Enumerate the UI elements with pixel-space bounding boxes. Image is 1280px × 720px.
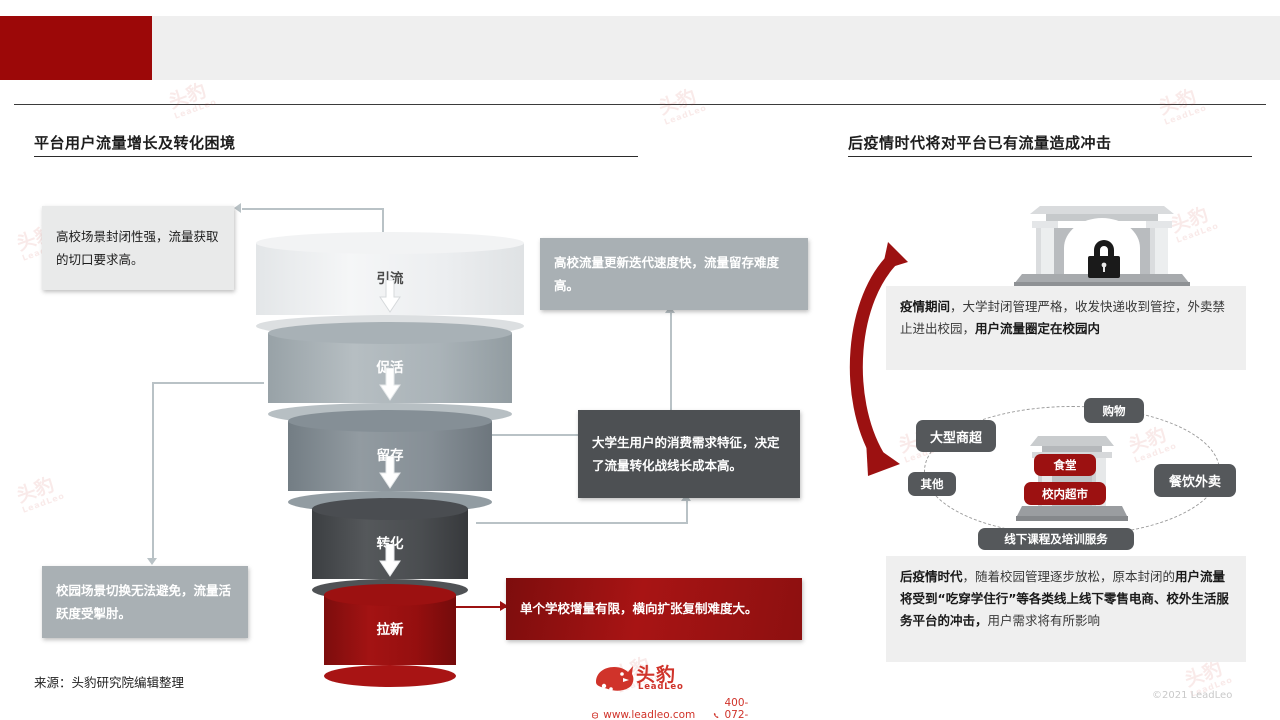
- ecosystem-center-tag: 食堂: [1034, 454, 1096, 476]
- leopard-logo-icon: [592, 660, 636, 694]
- note-seg: 后疫情时代，随着校园管理逐步放松，原本封闭的用户流量将受到“吃穿学住行”等各类线…: [900, 569, 1229, 628]
- connector-arrow: [147, 558, 157, 565]
- callout-box: 高校流量更新迭代速度快，流量留存难度高。: [540, 238, 808, 310]
- funnel-stage-top: [312, 498, 468, 520]
- campus-ecosystem-diagram: 食堂 校内超市 大型商超 购物 餐饮外卖 线下课程及培训服务 其他: [896, 392, 1256, 552]
- funnel-stage-label: 拉新: [324, 618, 456, 638]
- connector-line: [242, 208, 384, 210]
- ecosystem-tag-offline-courses: 线下课程及培训服务: [978, 528, 1134, 550]
- connector-line: [152, 382, 154, 560]
- funnel-stage-base: [324, 665, 456, 687]
- globe-icon: [592, 710, 598, 720]
- note-post-pandemic: 后疫情时代，随着校园管理逐步放松，原本封闭的用户流量将受到“吃穿学住行”等各类线…: [886, 556, 1246, 662]
- funnel-down-arrow-icon: [379, 456, 401, 494]
- funnel-stage-top: [268, 322, 512, 344]
- ecosystem-tag-other: 其他: [908, 472, 956, 496]
- callout-text: 高校流量更新迭代速度快，流量留存难度高。: [554, 251, 794, 297]
- section-rule-right: [848, 156, 1252, 157]
- ecosystem-center-tag: 校内超市: [1024, 482, 1106, 505]
- campus-gate-lock-icon: [1002, 188, 1202, 288]
- callout-text: 高校场景封闭性强，流量获取的切口要求高。: [56, 225, 220, 271]
- ecosystem-tag-food-delivery: 餐饮外卖: [1154, 464, 1236, 497]
- campus-gate-icon: [1014, 424, 1130, 536]
- connector-line: [152, 382, 264, 384]
- header-accent-block: [0, 16, 152, 80]
- funnel-down-arrow-icon: [379, 544, 401, 582]
- note-pandemic: 疫情期间，大学封闭管理严格，收发快递收到管控，外卖禁止进出校园，用户流量圈定在校…: [886, 286, 1246, 370]
- funnel-stage: 留存: [288, 410, 492, 502]
- section-rule-left: [34, 156, 638, 157]
- funnel-stage-top: [288, 410, 492, 432]
- source-note: 来源：头豹研究院编辑整理: [34, 672, 184, 691]
- watermark: 头豹LeadLeo: [15, 473, 67, 515]
- callout-box: 校园场景切换无法避免，流量活跃度受掣肘。: [42, 566, 248, 638]
- funnel-stage: 促活: [268, 322, 512, 414]
- callout-text: 大学生用户的消费需求特征，决定了流量转化战线长成本高。: [592, 431, 786, 477]
- connector-line: [686, 500, 688, 524]
- note-seg: 疫情期间，大学封闭管理严格，收发快递收到管控，外卖禁止进出校园，用户流量圈定在校…: [900, 299, 1225, 336]
- ecosystem-tag-shopping: 购物: [1084, 398, 1144, 423]
- funnel-stage: 转化: [312, 498, 468, 590]
- callout-box: 高校场景封闭性强，流量获取的切口要求高。: [42, 206, 234, 290]
- logo-text-en: LeadLeo: [638, 682, 684, 692]
- footer-contact: www.leadleo.com 400-072-5588: [592, 697, 767, 720]
- phone-icon: [713, 710, 719, 720]
- funnel-stage-top: [324, 584, 456, 606]
- header-band: [152, 16, 1280, 80]
- phone-text: 400-072-5588: [724, 697, 766, 720]
- funnel-down-arrow-icon: [379, 280, 401, 318]
- funnel-stage-top: [256, 232, 524, 254]
- copyright-text: ©2021 LeadLeo: [1152, 690, 1232, 701]
- website-text: www.leadleo.com: [603, 709, 695, 720]
- slide-canvas: 头豹LeadLeo 头豹LeadLeo 头豹LeadLeo 头豹LeadLeo …: [0, 0, 1280, 720]
- callout-text: 校园场景切换无法避免，流量活跃度受掣肘。: [56, 579, 234, 625]
- funnel-down-arrow-icon: [379, 368, 401, 406]
- callout-box: 单个学校增量有限，横向扩张复制难度大。: [506, 578, 802, 640]
- conversion-funnel: 引流 促活 留存: [256, 232, 524, 646]
- header-divider: [14, 104, 1266, 105]
- watermark: 头豹LeadLeo: [657, 85, 709, 127]
- ecosystem-tag-supermarket: 大型商超: [916, 420, 996, 452]
- callout-text: 单个学校增量有限，横向扩张复制难度大。: [520, 597, 758, 620]
- watermark: 头豹LeadLeo: [1157, 85, 1209, 127]
- funnel-stage: 拉新: [324, 584, 456, 676]
- connector-arrow: [234, 203, 241, 213]
- section-title-left: 平台用户流量增长及转化困境: [34, 132, 236, 153]
- section-title-right: 后疫情时代将对平台已有流量造成冲击: [848, 132, 1112, 153]
- watermark: 头豹LeadLeo: [167, 79, 219, 121]
- funnel-stage: 引流: [256, 232, 524, 326]
- brand-logo: 头豹 LeadLeo www.leadleo.com 400-072-5588: [592, 660, 752, 712]
- callout-box: 大学生用户的消费需求特征，决定了流量转化战线长成本高。: [578, 410, 800, 498]
